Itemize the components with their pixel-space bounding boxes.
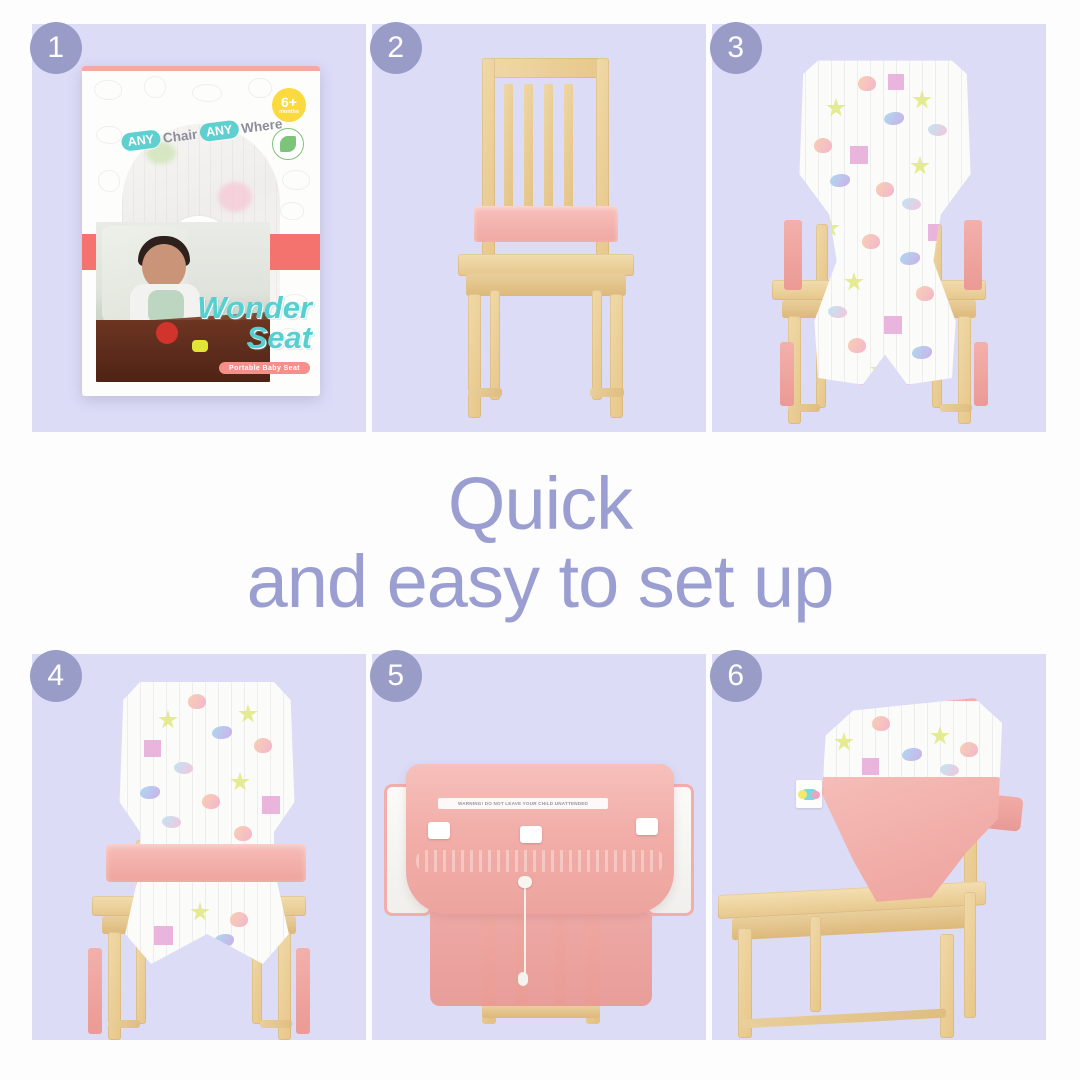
pink-strap-hanging [780, 342, 794, 406]
drawstring-cord [524, 882, 526, 978]
photo-apple-toy [156, 322, 178, 344]
chair-leg-front-right [610, 294, 623, 418]
chair-stretcher-right [260, 1020, 292, 1028]
chair-stretcher-right [590, 388, 624, 397]
headline-line-2: and easy to set up [247, 541, 834, 622]
buckle-center [520, 826, 542, 843]
chair-leg-back-left [810, 916, 821, 1012]
buckle-right [636, 818, 658, 835]
infographic-canvas: ANY Chair ANY Where 6+ months FIRST TIME [0, 0, 1080, 1080]
brand-fabric-tag [796, 780, 822, 808]
step-panel-5: WARNING! DO NOT LEAVE YOUR CHILD UNATTEN… [372, 654, 706, 1040]
product-box-image: ANY Chair ANY Where 6+ months FIRST TIME [82, 66, 320, 396]
tagline-any-badge-2: ANY [199, 120, 239, 143]
cloud-logo-icon [801, 789, 818, 800]
headline-block: Quick and easy to set up [0, 444, 1080, 644]
pink-strap-hanging [296, 948, 310, 1034]
chair-stretcher-left [108, 1020, 140, 1028]
chair-slat [544, 84, 553, 224]
pink-waist-strap [106, 844, 306, 882]
step-badge-1: 1 [30, 22, 82, 74]
headline-line-1: Quick [448, 466, 632, 541]
buckle-left [428, 822, 450, 839]
chair-leg-back-right [592, 290, 602, 400]
step-badge-2: 2 [370, 22, 422, 74]
step-badge-5: 5 [370, 650, 422, 702]
chair-slat [504, 84, 513, 224]
leaf-shape [280, 136, 296, 152]
step-panel-6 [712, 654, 1046, 1040]
chair-stretcher-right [940, 404, 972, 412]
step-badge-4: 4 [30, 650, 82, 702]
age-badge-unit: months [279, 110, 299, 116]
pink-side-tie [784, 220, 802, 290]
pink-strap-hanging [88, 948, 102, 1034]
chair-rail [482, 1004, 600, 1018]
cover-elastic-gather [416, 850, 664, 872]
warning-label: WARNING! DO NOT LEAVE YOUR CHILD UNATTEN… [438, 798, 608, 809]
step-badge-3: 3 [710, 22, 762, 74]
product-subtitle-pill: Portable Baby Seat [219, 362, 310, 374]
chair-leg-back-right [964, 892, 976, 1018]
box-product-title: Wonder Seat [192, 294, 312, 352]
chair-slat [524, 84, 533, 224]
chair-top-rail [482, 58, 609, 78]
age-badge: 6+ months [272, 88, 306, 122]
step-panel-3 [712, 24, 1046, 432]
chair-leg-front-right [940, 934, 954, 1038]
wooden-chair [446, 58, 646, 418]
pink-strap-hanging [974, 342, 988, 406]
seat-cover-fabric [114, 676, 300, 976]
step-panel-2 [372, 24, 706, 432]
step-panel-1: ANY Chair ANY Where 6+ months FIRST TIME [32, 24, 366, 432]
tagline-chair-word: Chair [162, 126, 198, 145]
product-title-line1: Wonder [192, 294, 312, 322]
chair-stretcher-left [468, 388, 502, 397]
step-badge-6: 6 [710, 650, 762, 702]
drawstring-toggle [518, 876, 532, 888]
chair-seat [458, 254, 634, 276]
age-badge-value: 6+ [281, 95, 297, 109]
tagline-any-badge-1: ANY [121, 129, 161, 152]
chair-leg-back-left [490, 290, 500, 400]
chair-slat [564, 84, 573, 224]
pink-back-strap [474, 206, 618, 242]
drawstring-end [518, 972, 528, 986]
eco-leaf-icon [272, 128, 304, 160]
seat-cover-fabric [792, 54, 978, 388]
chair-leg-front-left [468, 294, 481, 418]
cover-quilt-stitching [114, 676, 300, 976]
step-panel-4 [32, 654, 366, 1040]
chair-stretcher [742, 1009, 946, 1029]
pink-side-tie [964, 220, 982, 290]
chair-stile-left [816, 224, 828, 284]
product-title-line2: Seat [192, 324, 312, 352]
cover-quilt-stitching [792, 54, 978, 388]
